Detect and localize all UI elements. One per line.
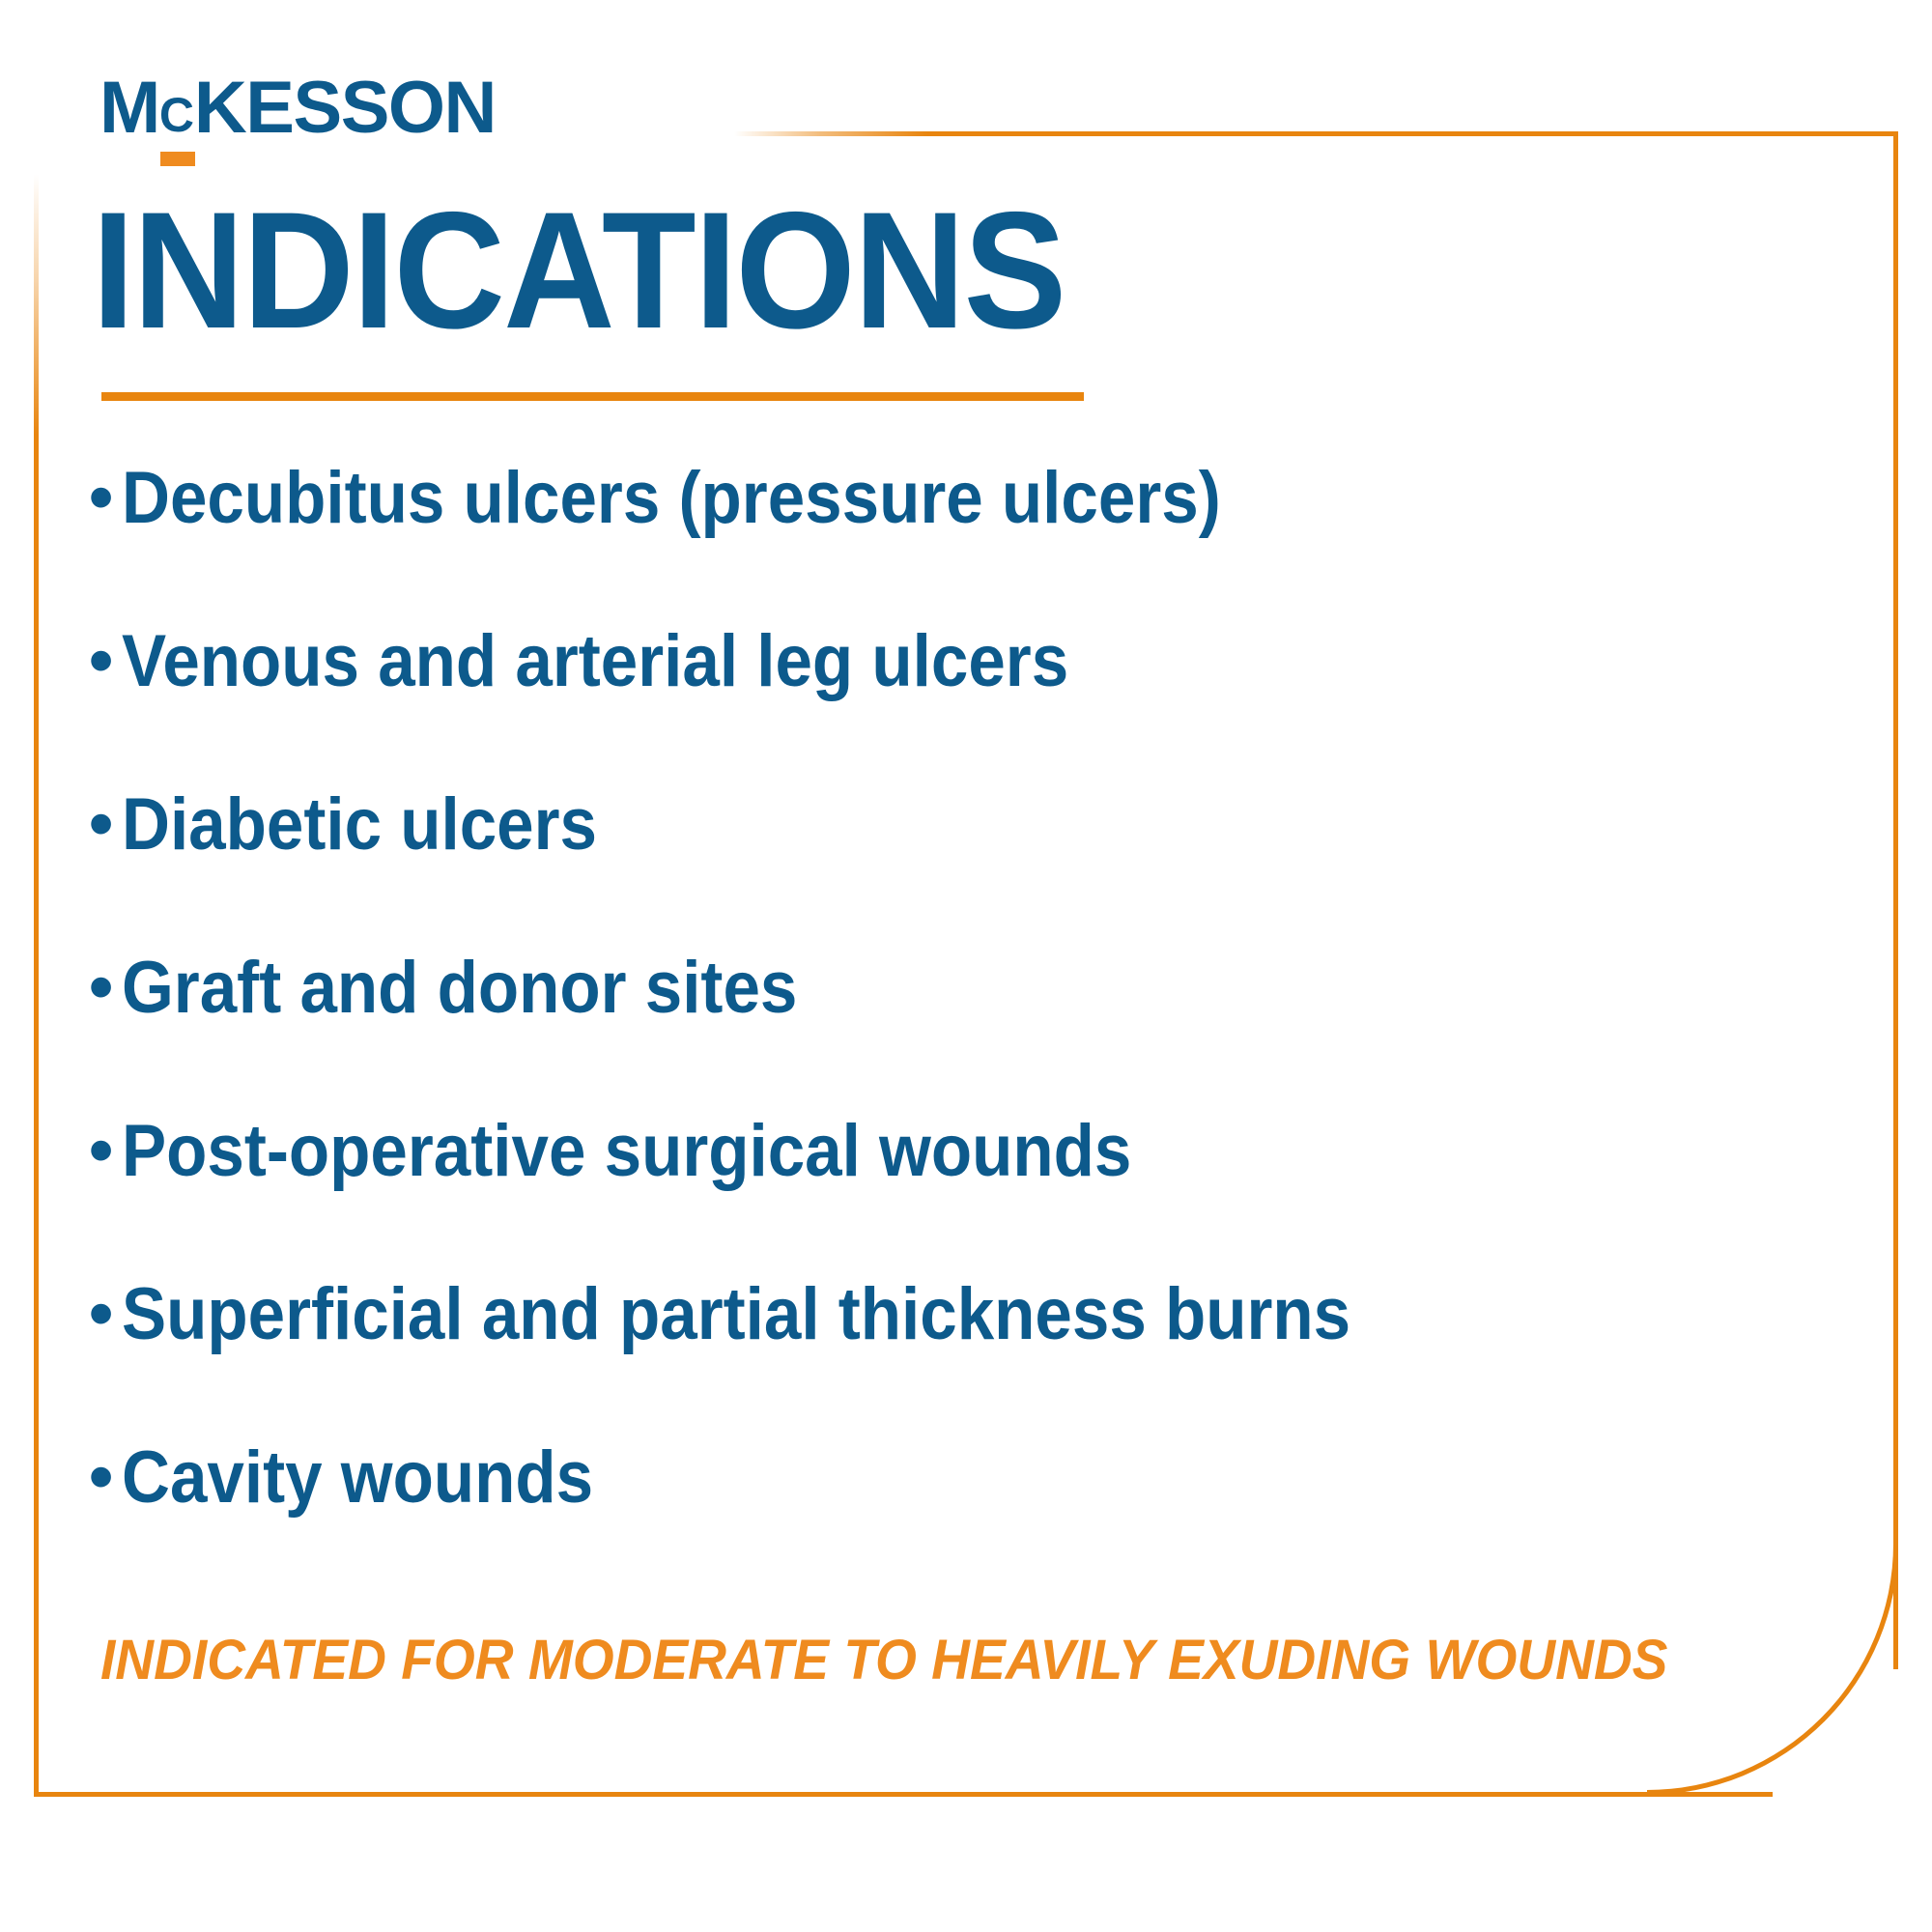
frame-right-rule: [1893, 133, 1898, 1669]
mckesson-logo: M C KESSON: [99, 71, 496, 145]
list-item-label: Decubitus ulcers (pressure ulcers): [122, 462, 1221, 535]
frame-bottom-rule: [34, 1792, 1773, 1797]
list-item: • Diabetic ulcers: [89, 788, 1886, 952]
list-item: • Decubitus ulcers (pressure ulcers): [89, 462, 1886, 625]
logo-orange-underbar-icon: [160, 152, 195, 166]
list-item-label: Superficial and partial thickness burns: [122, 1278, 1350, 1351]
bullet-dot-icon: •: [89, 1116, 122, 1185]
logo-superscript-c-wrap: C: [159, 71, 193, 145]
bullet-dot-icon: •: [89, 1442, 122, 1512]
logo-superscript-c: C: [159, 91, 193, 139]
logo-letters-kesson: KESSON: [194, 71, 496, 145]
list-item-label: Diabetic ulcers: [122, 788, 597, 862]
list-item: • Graft and donor sites: [89, 952, 1886, 1115]
list-item: • Venous and arterial leg ulcers: [89, 625, 1886, 788]
list-item: • Cavity wounds: [89, 1441, 1886, 1605]
bullet-dot-icon: •: [89, 789, 122, 859]
list-item: • Post-operative surgical wounds: [89, 1115, 1886, 1278]
list-item-label: Venous and arterial leg ulcers: [122, 625, 1068, 698]
bullet-dot-icon: •: [89, 626, 122, 696]
bullet-dot-icon: •: [89, 463, 122, 532]
frame-left-rule: [34, 116, 39, 1797]
logo-letter-m: M: [99, 71, 159, 145]
list-item: • Superficial and partial thickness burn…: [89, 1278, 1886, 1441]
bullet-dot-icon: •: [89, 952, 122, 1022]
indications-card: M C KESSON INDICATIONS • Decubitus ulcer…: [0, 0, 1932, 1932]
list-item-label: Graft and donor sites: [122, 952, 797, 1025]
exudate-caption: INDICATED FOR MODERATE TO HEAVILY EXUDIN…: [100, 1633, 1667, 1689]
page-title: INDICATIONS: [92, 180, 1065, 362]
list-item-label: Post-operative surgical wounds: [122, 1115, 1131, 1188]
list-item-label: Cavity wounds: [122, 1441, 593, 1515]
frame-top-rule: [676, 131, 1898, 136]
title-underline-rule: [101, 392, 1084, 401]
bullet-dot-icon: •: [89, 1279, 122, 1349]
indications-list: • Decubitus ulcers (pressure ulcers) • V…: [89, 462, 1886, 1605]
